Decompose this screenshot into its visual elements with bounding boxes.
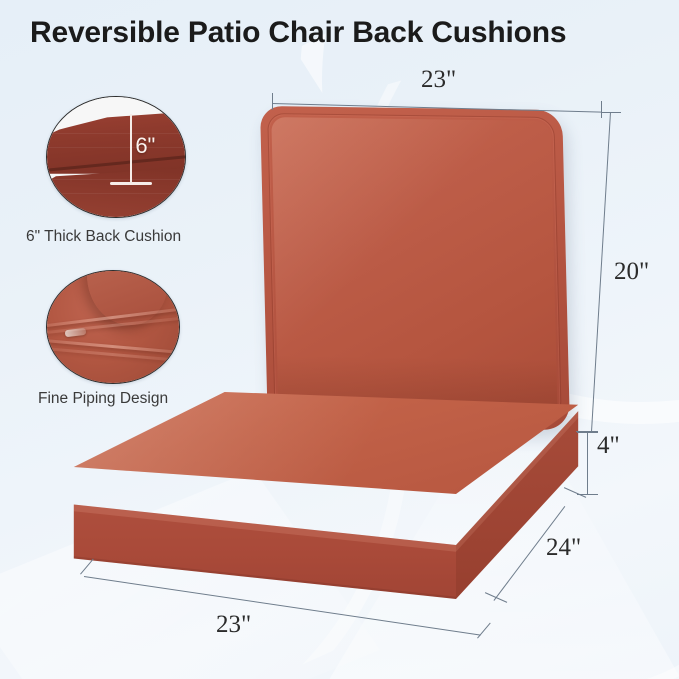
dimension-tick <box>272 93 273 110</box>
product-infographic: Reversible Patio Chair Back Cushions <box>0 0 679 679</box>
dimension-label-seat-depth: 24" <box>546 534 581 562</box>
dimension-label-seat-width: 23" <box>216 611 251 639</box>
page-title: Reversible Patio Chair Back Cushions <box>30 16 566 50</box>
thickness-measure-line <box>130 114 132 184</box>
back-cushion-piping <box>267 113 562 421</box>
dimension-tick <box>601 101 602 118</box>
dimension-line-seat-thickness <box>587 433 588 495</box>
dimension-line-back-height <box>591 112 611 432</box>
dimension-label-seat-thickness: 4" <box>597 432 620 460</box>
callout-thickness-label: 6" Thick Back Cushion <box>26 228 181 246</box>
thickness-measure-base <box>110 182 151 185</box>
dimension-tick <box>477 623 491 639</box>
piping-closeup-icon <box>46 270 180 384</box>
dimension-label-back-width: 23" <box>421 66 456 94</box>
seat-cushion <box>66 392 586 617</box>
callout-piping-label: Fine Piping Design <box>38 390 168 408</box>
back-cushion <box>260 106 570 430</box>
cushion-cross-section-icon: 6" <box>46 96 186 218</box>
dimension-tick <box>601 112 621 113</box>
dimension-label-back-height: 20" <box>614 258 649 286</box>
thickness-measure-label: 6" <box>135 133 155 159</box>
dimension-tick <box>577 432 598 433</box>
